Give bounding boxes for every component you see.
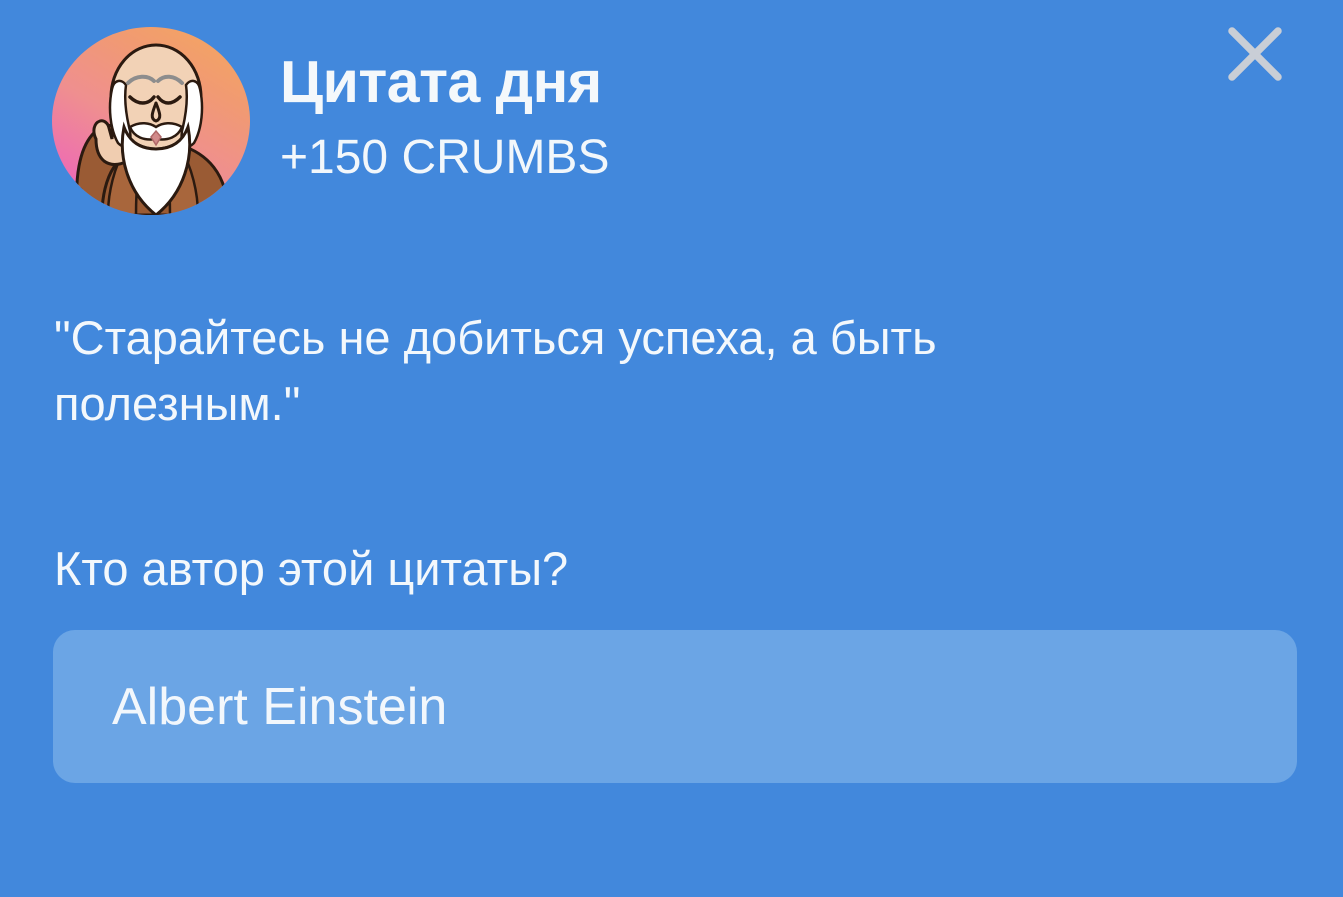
modal-header: Цитата дня +150 CRUMBS xyxy=(52,27,609,215)
answer-option-label: Albert Einstein xyxy=(112,681,447,733)
header-text-block: Цитата дня +150 CRUMBS xyxy=(280,27,609,182)
answer-options-list: Albert Einstein xyxy=(53,630,1297,783)
quiz-question: Кто автор этой цитаты? xyxy=(54,540,568,598)
old-wise-man-avatar xyxy=(52,27,250,215)
quote-of-the-day-modal: Цитата дня +150 CRUMBS "Старайтесь не до… xyxy=(0,0,1343,897)
quote-text: "Старайтесь не добиться успеха, а быть п… xyxy=(54,305,1174,437)
answer-option-0[interactable]: Albert Einstein xyxy=(53,630,1297,783)
page-title: Цитата дня xyxy=(280,53,609,112)
reward-badge: +150 CRUMBS xyxy=(280,134,609,182)
close-icon xyxy=(1227,26,1283,82)
close-button[interactable] xyxy=(1223,22,1287,86)
